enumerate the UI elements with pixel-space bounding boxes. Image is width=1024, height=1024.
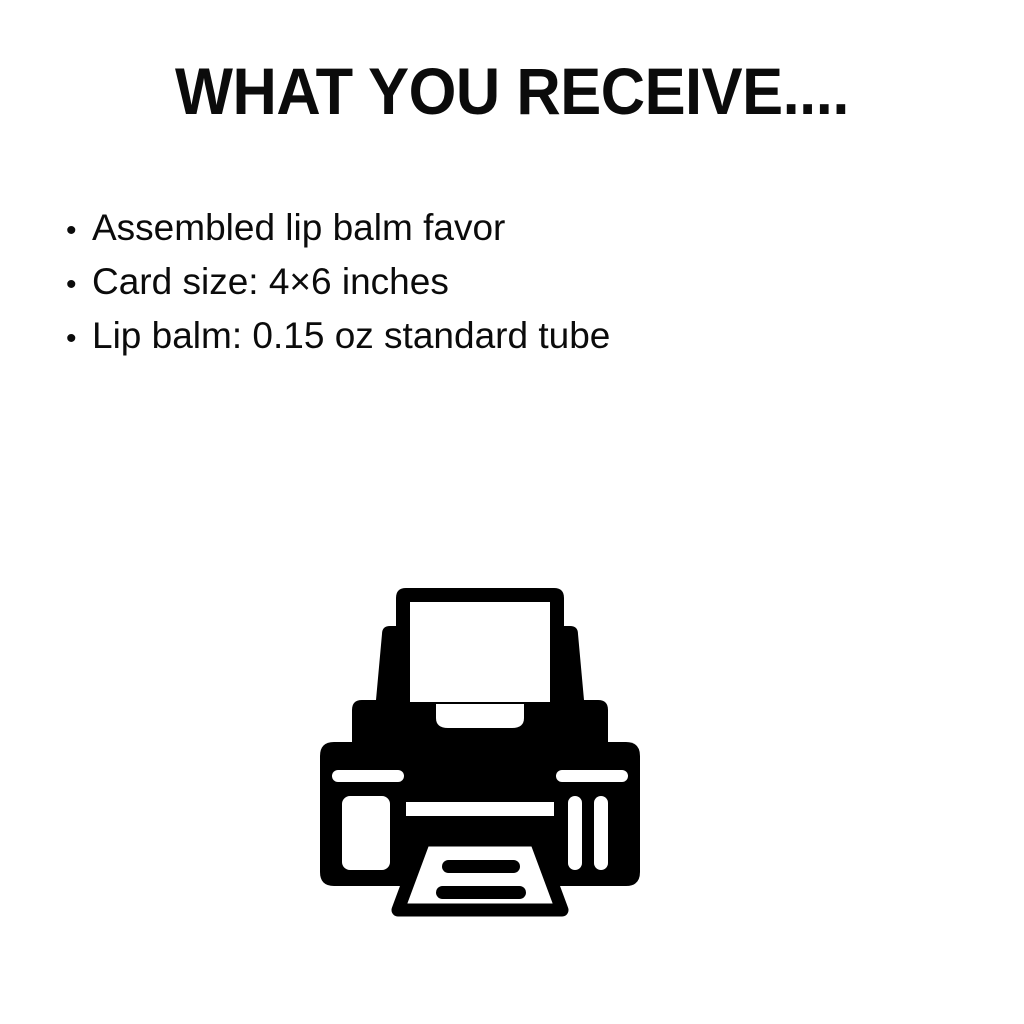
printer-body-group (320, 588, 640, 910)
printer-feed-slot (406, 802, 554, 816)
list-item-label: Card size: 4×6 inches (92, 256, 449, 307)
bullet-icon: • (66, 205, 92, 256)
list-item: • Lip balm: 0.15 oz standard tube (66, 310, 946, 364)
list-item-label: Lip balm: 0.15 oz standard tube (92, 310, 610, 361)
page-root: WHAT YOU RECEIVE.... • Assembled lip bal… (0, 0, 1024, 1024)
printer-left-panel (342, 796, 390, 870)
list-item: • Assembled lip balm favor (66, 202, 946, 256)
printer-icon (312, 578, 648, 918)
printer-right-slot-one (568, 796, 582, 870)
printer-paper-line-one (442, 860, 520, 873)
printer-right-vent-bar (556, 770, 628, 782)
page-title: WHAT YOU RECEIVE.... (36, 52, 988, 130)
details-list: • Assembled lip balm favor • Card size: … (66, 202, 946, 364)
list-item: • Card size: 4×6 inches (66, 256, 946, 310)
bullet-icon: • (66, 313, 92, 364)
list-item-label: Assembled lip balm favor (92, 202, 505, 253)
printer-output-paper (398, 840, 562, 910)
printer-paper-line-two (436, 886, 526, 899)
printer-lid-panel (410, 602, 550, 702)
printer-right-slot-two (594, 796, 608, 870)
bullet-icon: • (66, 259, 92, 310)
printer-icon-graphic (312, 578, 648, 918)
printer-left-vent-bar (332, 770, 404, 782)
printer-lid-notch (436, 704, 524, 728)
